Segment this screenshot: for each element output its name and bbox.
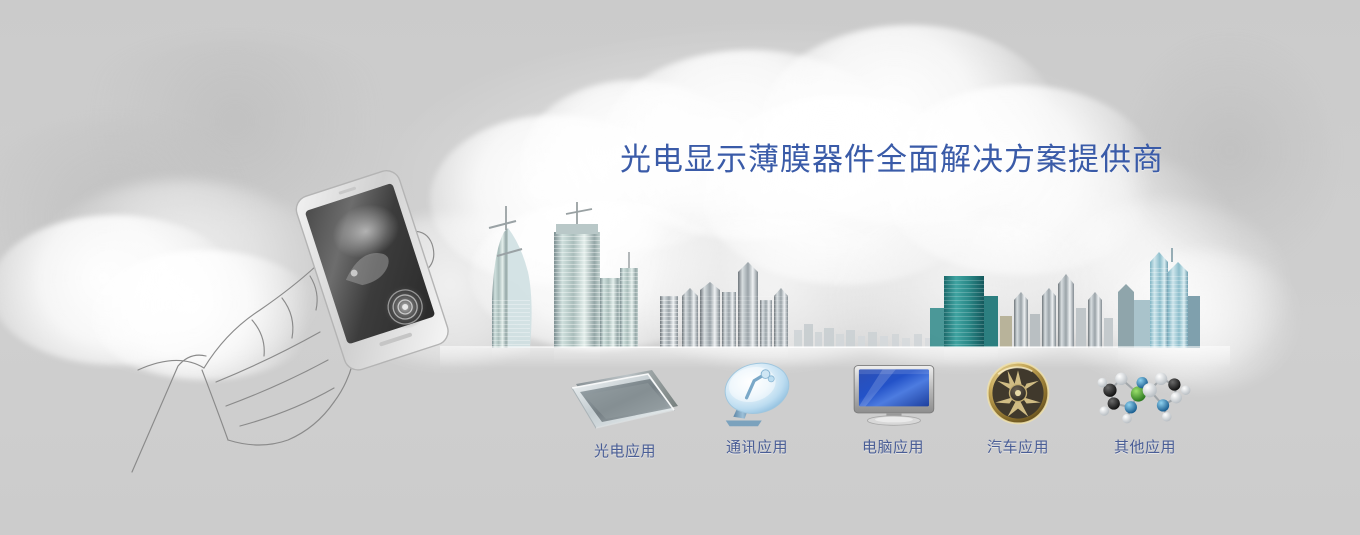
- page-title: 光电显示薄膜器件全面解决方案提供商: [620, 140, 1164, 180]
- molecule-structure-icon: [1080, 358, 1210, 430]
- smartphone-illustration: [293, 167, 452, 373]
- hand-holding-smartphone-sketch: [120, 120, 500, 500]
- mid-skyscraper-cluster: [660, 262, 788, 348]
- computer-monitor-icon: [828, 358, 958, 430]
- app-label-computer: 电脑应用: [828, 438, 958, 456]
- horizon-line: [455, 347, 1215, 348]
- hero-banner: 光电显示薄膜器件全面解决方案提供商: [0, 0, 1360, 535]
- app-label-other: 其他应用: [1080, 438, 1210, 456]
- cyan-towers: [1118, 248, 1200, 348]
- app-item-computer[interactable]: 电脑应用: [828, 358, 958, 456]
- app-item-other[interactable]: 其他应用: [1080, 358, 1210, 456]
- main-skyscraper: [554, 202, 638, 348]
- app-label-optoelectronic: 光电应用: [560, 442, 690, 460]
- distant-low-buildings: [794, 324, 932, 348]
- app-item-optoelectronic[interactable]: 光电应用: [560, 362, 690, 460]
- glass-film-panels-icon: [560, 362, 690, 434]
- app-item-automotive[interactable]: 汽车应用: [953, 358, 1083, 456]
- satellite-dish-icon: [692, 358, 822, 430]
- app-item-communication[interactable]: 通讯应用: [692, 358, 822, 456]
- right-steel-cluster: [1000, 274, 1113, 348]
- teal-tower: [930, 276, 998, 348]
- app-label-automotive: 汽车应用: [953, 438, 1083, 456]
- app-label-communication: 通讯应用: [692, 438, 822, 456]
- car-wheel-rim-icon: [953, 358, 1083, 430]
